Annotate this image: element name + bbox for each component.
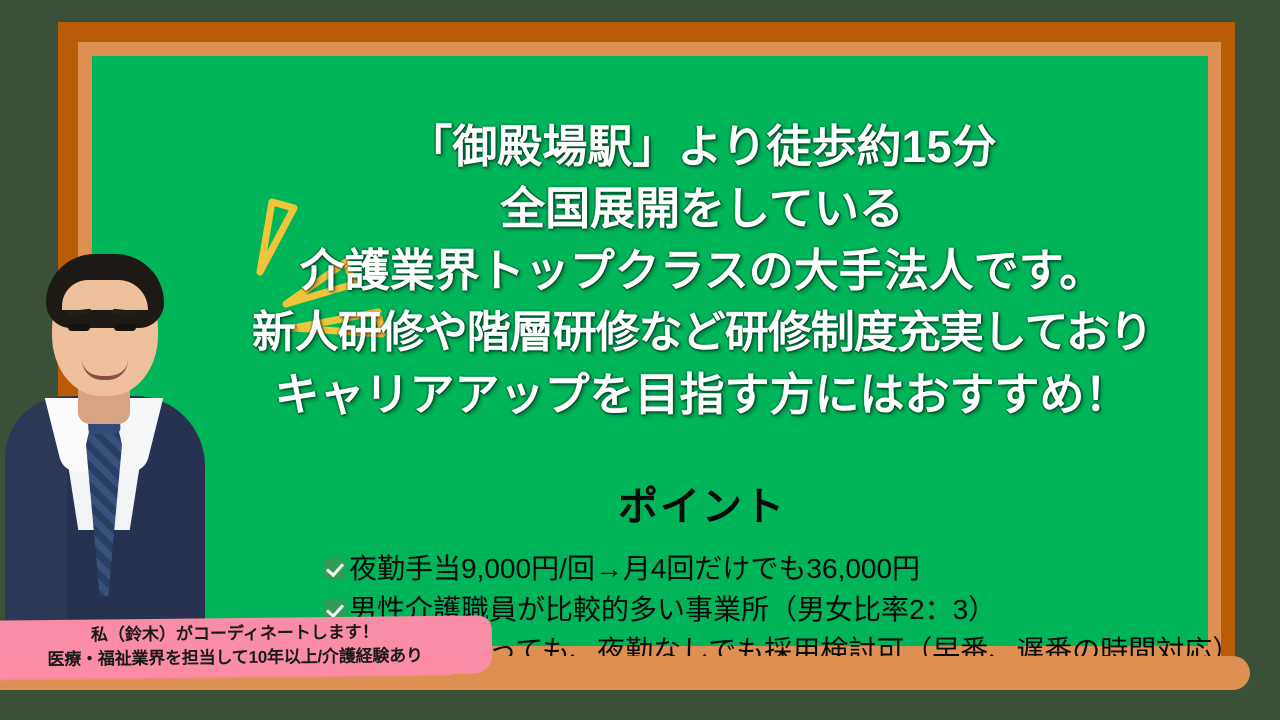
headline-line-1: 「御殿場駅」より徒歩約15分 — [182, 116, 1222, 178]
slide-canvas: 「御殿場駅」より徒歩約15分 全国展開をしている 介護業界トップクラスの大手法人… — [0, 0, 1280, 720]
photo-eye-right — [114, 324, 136, 331]
coordinator-banner-text: 私（鈴木）がコーディネートします！ 医療・福祉業界を担当して10年以上/介護経験… — [0, 620, 470, 673]
headline-line-3: 介護業界トップクラスの大手法人です。 — [182, 240, 1222, 302]
banner-line-2: 医療・福祉業界を担当して10年以上/介護経験あり — [0, 644, 470, 673]
headline-line-5: キャリアアップを目指す方にはおすすめ！ — [182, 364, 1222, 426]
photo-eye-left — [68, 324, 90, 331]
board-frame-inner: 「御殿場駅」より徒歩約15分 全国展開をしている 介護業界トップクラスの大手法人… — [78, 42, 1221, 664]
coordinator-photo — [0, 248, 210, 668]
board-frame-outer: 「御殿場駅」より徒歩約15分 全国展開をしている 介護業界トップクラスの大手法人… — [58, 22, 1235, 678]
chalkboard-surface: 「御殿場駅」より徒歩約15分 全国展開をしている 介護業界トップクラスの大手法人… — [92, 56, 1208, 646]
check-icon — [324, 558, 346, 580]
point-heading: ポイント — [182, 483, 1222, 531]
headline-block: 「御殿場駅」より徒歩約15分 全国展開をしている 介護業界トップクラスの大手法人… — [182, 116, 1222, 426]
headline-line-4: 新人研修や階層研修など研修制度充実しており — [182, 302, 1222, 364]
list-item-label: 夜勤手当9,000円/回→月4回だけでも36,000円 — [349, 550, 920, 588]
headline-line-2: 全国展開をしている — [182, 178, 1222, 240]
board-content: 「御殿場駅」より徒歩約15分 全国展開をしている 介護業界トップクラスの大手法人… — [92, 56, 1208, 646]
list-item: 夜勤手当9,000円/回→月4回だけでも36,000円 — [324, 550, 1264, 588]
photo-hair — [46, 254, 164, 328]
